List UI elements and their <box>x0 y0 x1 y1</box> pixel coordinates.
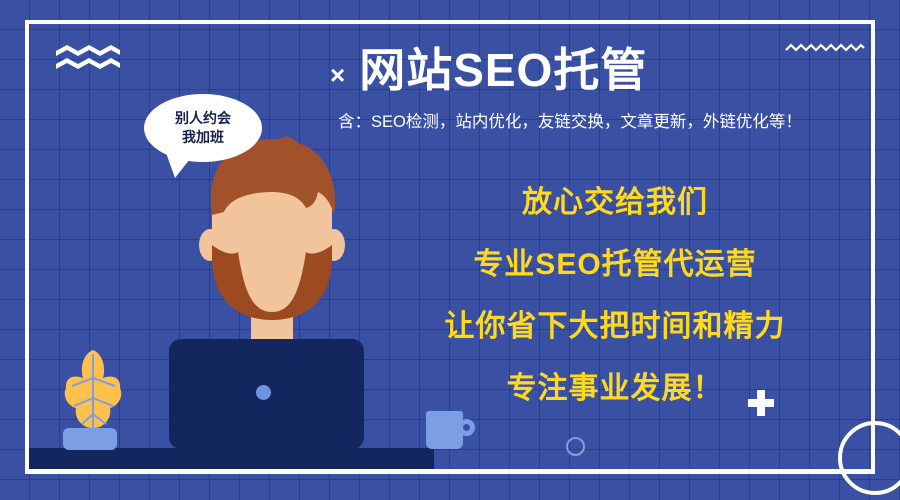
laptop-logo-dot <box>256 385 271 400</box>
seo-promo-banner: × 网站SEO托管 含：SEO检测，站内优化，友链交换，文章更新，外链优化等！ … <box>0 0 900 500</box>
coffee-mug <box>426 411 463 449</box>
mouth-shape <box>248 263 296 281</box>
speech-bubble: 别人约会 我加班 <box>144 94 262 162</box>
plant-pot <box>63 428 117 450</box>
speech-bubble-line-2: 我加班 <box>182 128 224 147</box>
speech-bubble-text: 别人约会 我加班 <box>144 94 262 162</box>
desk-surface <box>29 448 434 470</box>
speech-bubble-line-1: 别人约会 <box>175 109 231 128</box>
laptop-screen <box>169 339 364 449</box>
desk-edge-line <box>29 469 871 473</box>
plant-leaf-icon <box>58 348 128 436</box>
